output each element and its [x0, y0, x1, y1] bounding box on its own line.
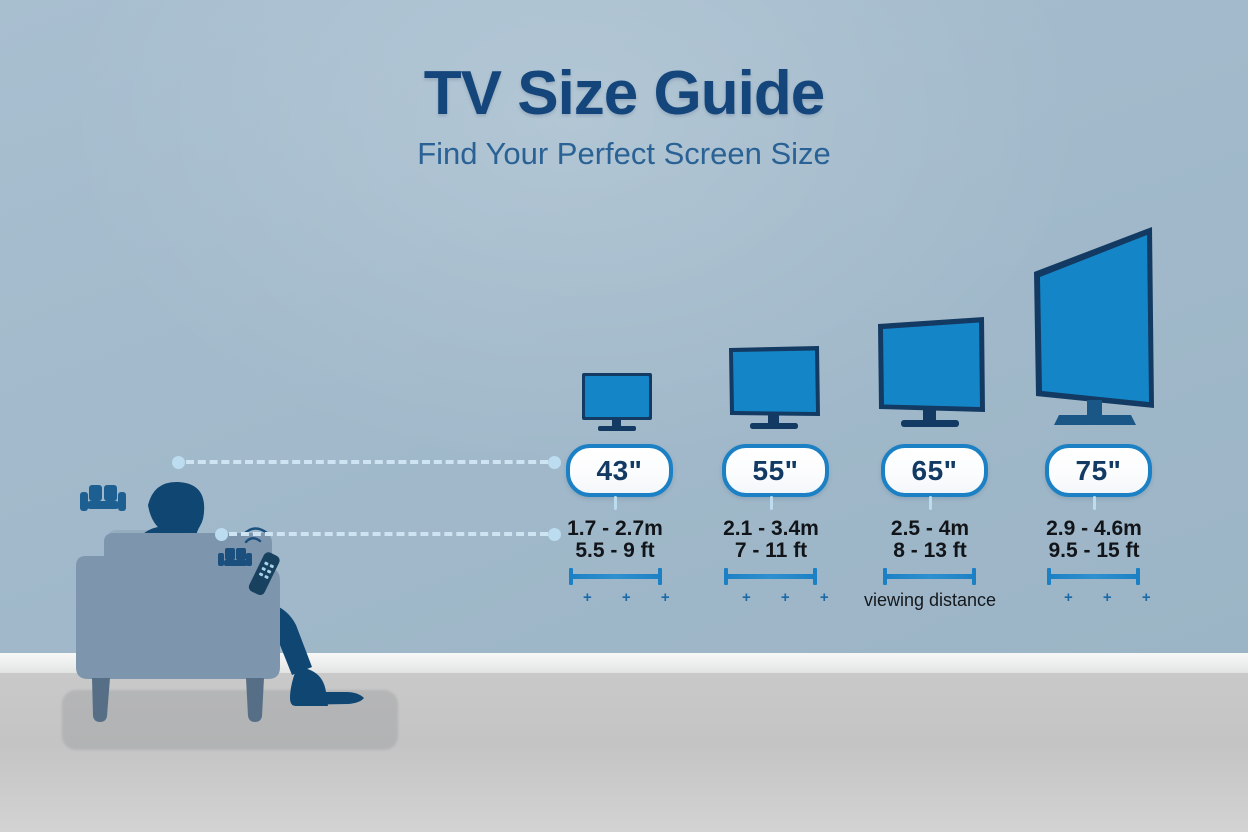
- measure-bar-line: [569, 574, 662, 579]
- viewing-distance-caption: viewing distance: [859, 590, 1001, 611]
- measure-bar-cap-right: [972, 568, 976, 585]
- distance-meters-75: 2.9 - 4.6m: [1009, 518, 1179, 540]
- measure-bar-cap-left: [569, 568, 573, 585]
- measure-bar-line: [1047, 574, 1140, 579]
- viewer-scene: [60, 470, 400, 745]
- measure-bar-55: [724, 568, 817, 585]
- measure-bar-43: [569, 568, 662, 585]
- measure-bar-65: [883, 568, 976, 585]
- measure-bar-line: [724, 574, 817, 579]
- badge-tick-65: [929, 496, 932, 510]
- measure-bar-line: [883, 574, 976, 579]
- badge-tick-55: [770, 496, 773, 510]
- sightline-dot-start-upper: [172, 456, 185, 469]
- size-badge-55[interactable]: 55": [722, 444, 829, 497]
- tv-screen-55: [726, 344, 826, 434]
- size-badge-75[interactable]: 75": [1045, 444, 1152, 497]
- size-badge-label: 75": [1076, 455, 1122, 487]
- page-title: TV Size Guide: [0, 58, 1248, 129]
- measure-bar-cap-right: [813, 568, 817, 585]
- size-badge-label: 43": [597, 455, 643, 487]
- measure-bar-cap-left: [1047, 568, 1051, 585]
- sightline-lower: [229, 532, 548, 540]
- size-badge-43[interactable]: 43": [566, 444, 673, 497]
- tv-screen-75: [1026, 222, 1166, 438]
- infographic-canvas: TV Size Guide Find Your Perfect Screen S…: [0, 0, 1248, 832]
- distance-meters-65: 2.5 - 4m: [845, 518, 1015, 540]
- size-badge-label: 65": [912, 455, 958, 487]
- sightline-dot-start-lower: [215, 528, 228, 541]
- distance-feet-65: 8 - 13 ft: [845, 540, 1015, 562]
- distance-text-43: 1.7 - 2.7m 5.5 - 9 ft: [530, 518, 700, 562]
- measure-bar-cap-right: [1136, 568, 1140, 585]
- sofa-icon: [80, 485, 126, 511]
- measure-marks-55: + + +: [742, 589, 842, 606]
- distance-text-75: 2.9 - 4.6m 9.5 - 15 ft: [1009, 518, 1179, 562]
- distance-feet-55: 7 - 11 ft: [686, 540, 856, 562]
- distance-text-55: 2.1 - 3.4m 7 - 11 ft: [686, 518, 856, 562]
- sightline-upper: [186, 460, 548, 468]
- page-subtitle: Find Your Perfect Screen Size: [0, 136, 1248, 172]
- measure-marks-43: + + +: [583, 589, 683, 606]
- badge-tick-43: [614, 496, 617, 510]
- sightline-dot-end-upper: [548, 456, 561, 469]
- measure-marks-75: + + +: [1064, 589, 1164, 606]
- measure-bar-cap-left: [883, 568, 887, 585]
- size-badge-65[interactable]: 65": [881, 444, 988, 497]
- distance-text-65: 2.5 - 4m 8 - 13 ft: [845, 518, 1015, 562]
- distance-feet-75: 9.5 - 15 ft: [1009, 540, 1179, 562]
- measure-bar-75: [1047, 568, 1140, 585]
- measure-bar-cap-right: [658, 568, 662, 585]
- tv-screen-43: [578, 372, 656, 434]
- distance-meters-43: 1.7 - 2.7m: [530, 518, 700, 540]
- badge-tick-75: [1093, 496, 1096, 510]
- measure-bar-cap-left: [724, 568, 728, 585]
- size-badge-label: 55": [753, 455, 799, 487]
- distance-meters-55: 2.1 - 3.4m: [686, 518, 856, 540]
- distance-feet-43: 5.5 - 9 ft: [530, 540, 700, 562]
- tv-screen-65: [874, 314, 992, 434]
